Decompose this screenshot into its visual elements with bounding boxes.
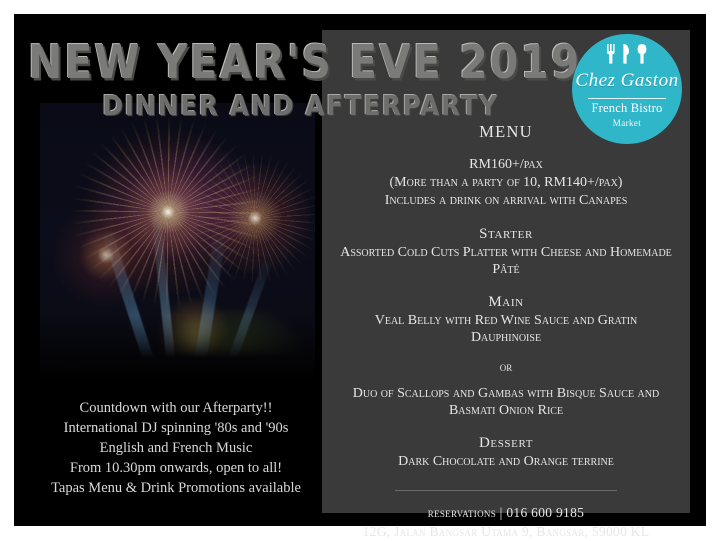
logo-divider: [588, 98, 666, 99]
restaurant-logo: Chez Gaston French Bistro Market: [572, 34, 682, 144]
contact-block: reservations | 016 600 9185 12G, Jalan B…: [322, 503, 690, 541]
menu-price-inclusion: Includes a drink on arrival with Canapes: [322, 192, 690, 210]
course-title: Main: [322, 294, 690, 311]
course-description: Veal Belly with Red Wine Sauce and Grati…: [322, 312, 690, 346]
afterparty-line: Tapas Menu & Drink Promotions available: [26, 478, 326, 498]
course-description: Assorted Cold Cuts Platter with Cheese a…: [322, 244, 690, 278]
poster-root: NEW YEAR'S EVE 2019 DINNER AND AFTERPART…: [0, 0, 720, 540]
course-or-separator: or: [322, 359, 690, 375]
fireworks-photo: [40, 103, 315, 393]
title-block: NEW YEAR'S EVE 2019 DINNER AND AFTERPART…: [28, 40, 573, 117]
afterparty-line: English and French Music: [26, 438, 326, 458]
course-description: Dark Chocolate and Orange terrine: [322, 453, 690, 470]
logo-tagline: French Bistro: [572, 101, 682, 116]
firework-burst-tertiary: [46, 195, 166, 315]
menu-content: MENU RM160+/pax (More than a party of 10…: [322, 122, 690, 541]
afterparty-line: From 10.30pm onwards, open to all!: [26, 458, 326, 478]
menu-price-block: RM160+/pax (More than a party of 10, RM1…: [322, 156, 690, 210]
poster-title: NEW YEAR'S EVE 2019: [28, 40, 573, 86]
logo-tagline-secondary: Market: [572, 118, 682, 128]
menu-price-line: RM160+/pax: [322, 156, 690, 174]
address-line: 12G, Jalan Bangsar Utama 9, Bangsar, 590…: [322, 522, 690, 541]
afterparty-line: Countdown with our Afterparty!!: [26, 398, 326, 418]
course-title: Starter: [322, 226, 690, 243]
course-starter: Starter Assorted Cold Cuts Platter with …: [322, 226, 690, 278]
course-dessert: Dessert Dark Chocolate and Orange terrin…: [322, 435, 690, 470]
logo-name: Chez Gaston: [572, 70, 682, 92]
menu-price-note: (More than a party of 10, RM140+/pax): [322, 174, 690, 192]
course-title: Dessert: [322, 435, 690, 452]
afterparty-line: International DJ spinning '80s and '90s: [26, 418, 326, 438]
menu-divider: [395, 490, 617, 491]
fork-knife-spoon-icon: [572, 43, 682, 65]
crowd-silhouette: [40, 363, 315, 393]
course-main-alternate: Duo of Scallops and Gambas with Bisque S…: [322, 385, 690, 419]
poster-subtitle: DINNER AND AFTERPARTY: [28, 92, 573, 120]
afterparty-details: Countdown with our Afterparty!! Internat…: [26, 398, 326, 498]
course-main: Main Veal Belly with Red Wine Sauce and …: [322, 294, 690, 346]
reservations-line[interactable]: reservations | 016 600 9185: [322, 503, 690, 522]
